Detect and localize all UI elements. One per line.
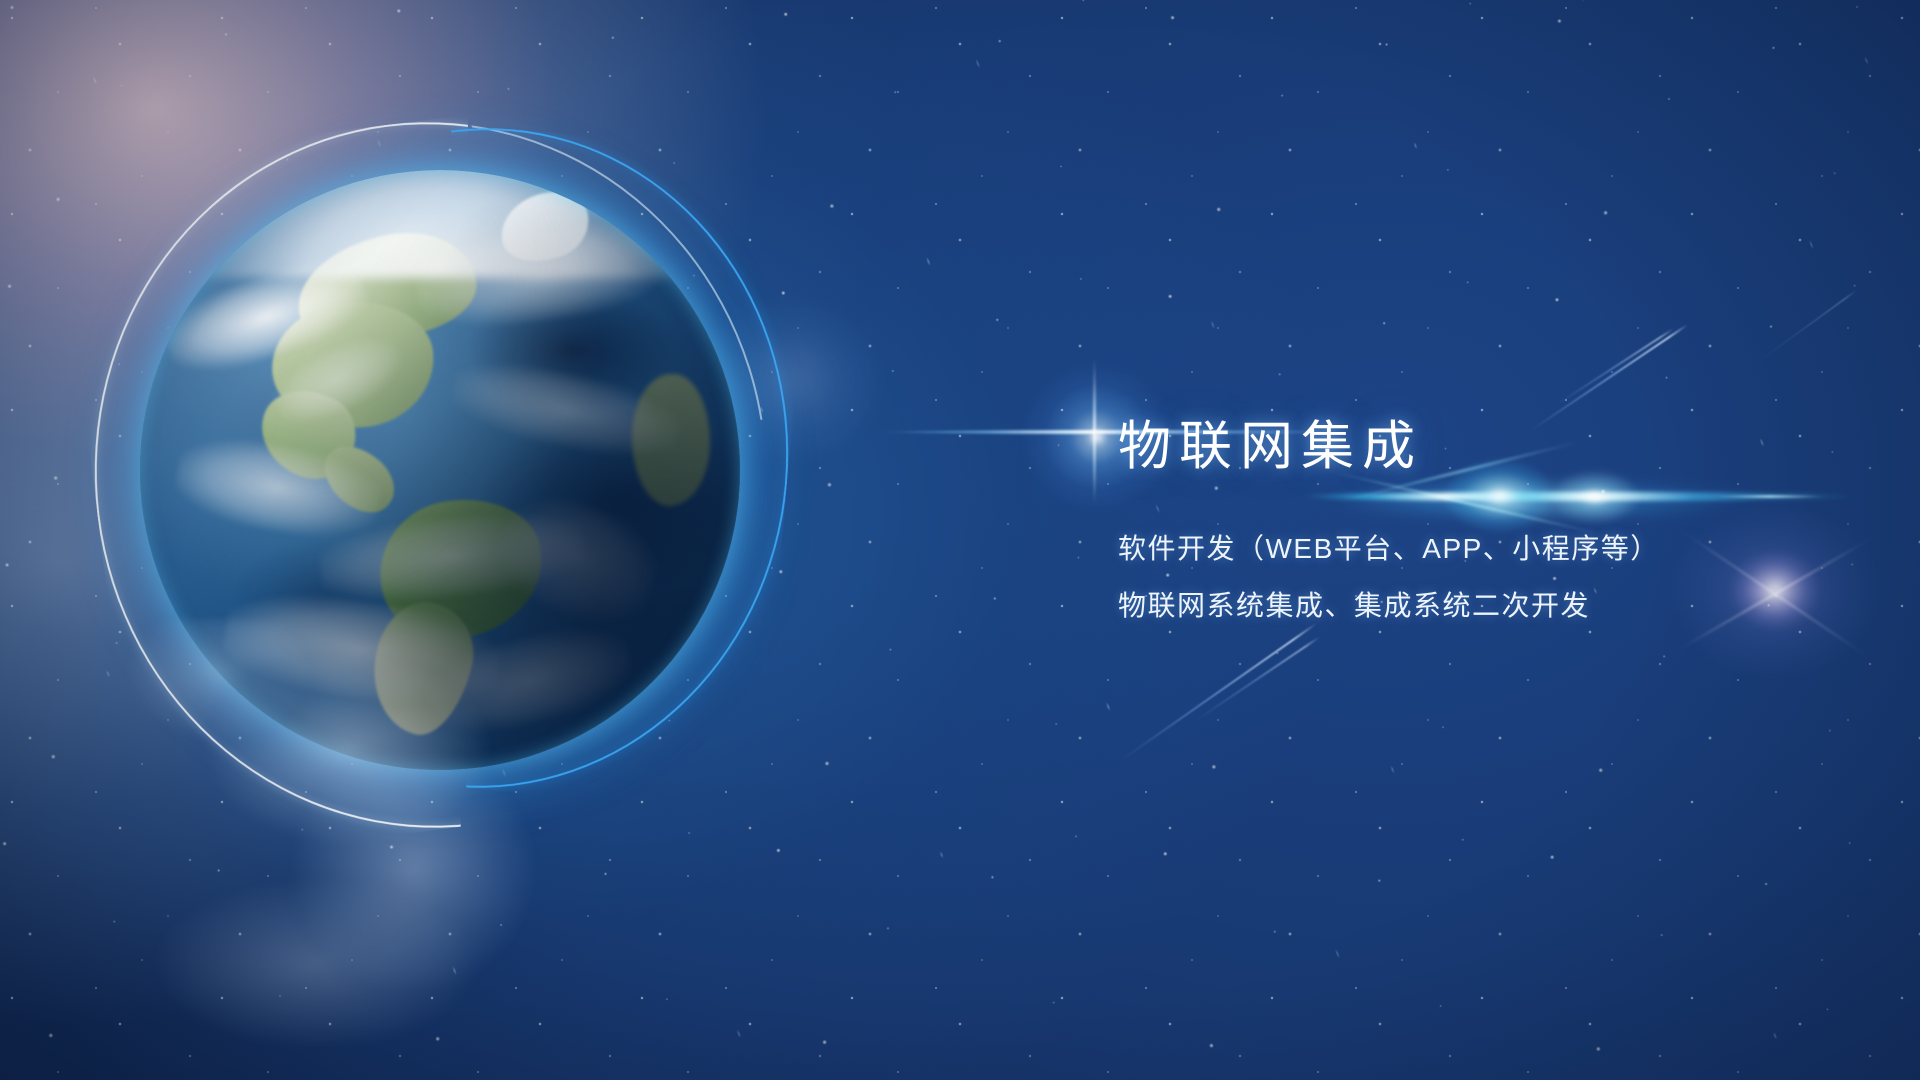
lens-flare-vertical-streak (1093, 356, 1096, 506)
earth-globe (140, 170, 740, 770)
meteor-streak (1760, 290, 1858, 362)
meteor-streak (1195, 636, 1320, 721)
meteor-streak (1119, 623, 1317, 762)
hero-banner: 物联网集成 软件开发（WEB平台、APP、小程序等） 物联网系统集成、集成系统二… (0, 0, 1920, 1080)
meteor-streak (1556, 328, 1674, 406)
hero-subtitle-line-2: 物联网系统集成、集成系统二次开发 (1118, 592, 1878, 620)
hero-copy: 物联网集成 软件开发（WEB平台、APP、小程序等） 物联网系统集成、集成系统二… (1118, 420, 1878, 620)
hero-subtitle-line-1: 软件开发（WEB平台、APP、小程序等） (1118, 535, 1878, 563)
globe-atmosphere-rim (140, 170, 740, 770)
globe-sphere (140, 170, 740, 770)
page-title: 物联网集成 (1118, 420, 1878, 473)
meteor-streak (1529, 324, 1688, 432)
